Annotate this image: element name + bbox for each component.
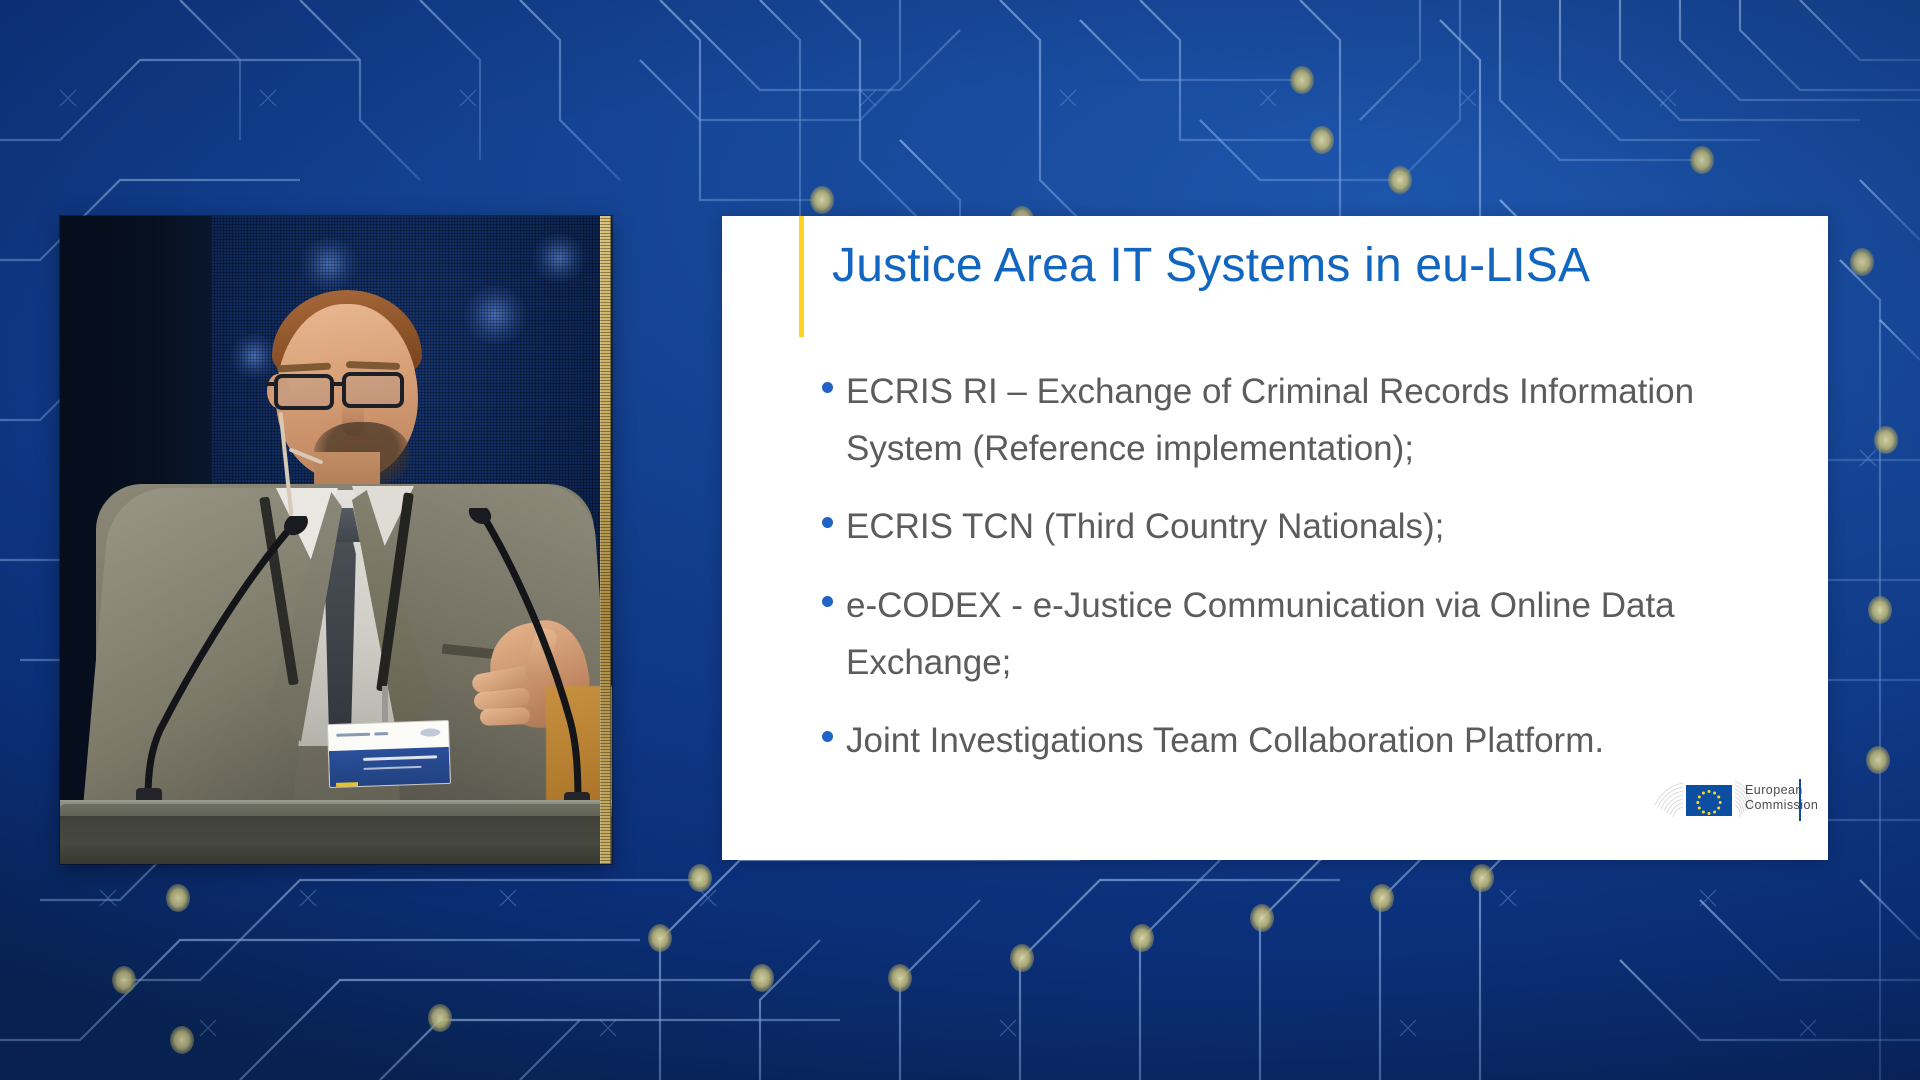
title-accent-bar [799,216,804,337]
list-item-label: Joint Investigations Team Collaboration … [846,713,1604,770]
eu-flag-icon [1686,785,1732,816]
list-item: Joint Investigations Team Collaboration … [822,713,1782,770]
ec-logo-divider [1799,779,1801,821]
bullet-list: ECRIS RI – Exchange of Criminal Records … [822,364,1782,792]
podium-shadow [60,816,612,844]
list-item: ECRIS TCN (Third Country Nationals); [822,499,1782,556]
microphone-right [430,508,612,818]
european-commission-logo: European Commission [1647,777,1807,825]
glasses-lens-left [274,374,334,410]
bullet-dot-icon [822,596,833,607]
speaker-mouth [342,440,382,445]
list-item: ECRIS RI – Exchange of Criminal Records … [822,364,1782,477]
speaker-photo [60,216,612,864]
page-title: Justice Area IT Systems in eu-LISA [832,238,1590,293]
glasses-bridge [332,382,346,386]
bullet-dot-icon [822,517,833,528]
glasses-lens-right [342,372,404,408]
ec-logo-line2: Commission [1745,798,1818,813]
led-wall-gold-edge-grid [600,216,611,864]
slide-content-panel: Justice Area IT Systems in eu-LISA ECRIS… [722,216,1828,860]
ec-logo-text: European Commission [1745,783,1818,813]
list-item-label: ECRIS RI – Exchange of Criminal Records … [846,364,1782,477]
list-item-label: ECRIS TCN (Third Country Nationals); [846,499,1444,556]
list-item-label: e-CODEX - e-Justice Communication via On… [846,578,1782,691]
bullet-dot-icon [822,382,833,393]
glasses-temple [266,382,278,386]
microphone-left [98,516,348,816]
badge-clip [382,686,388,722]
bullet-dot-icon [822,731,833,742]
ec-logo-line1: European [1745,783,1818,798]
eu-stars-icon [1686,785,1732,816]
list-item: e-CODEX - e-Justice Communication via On… [822,578,1782,691]
